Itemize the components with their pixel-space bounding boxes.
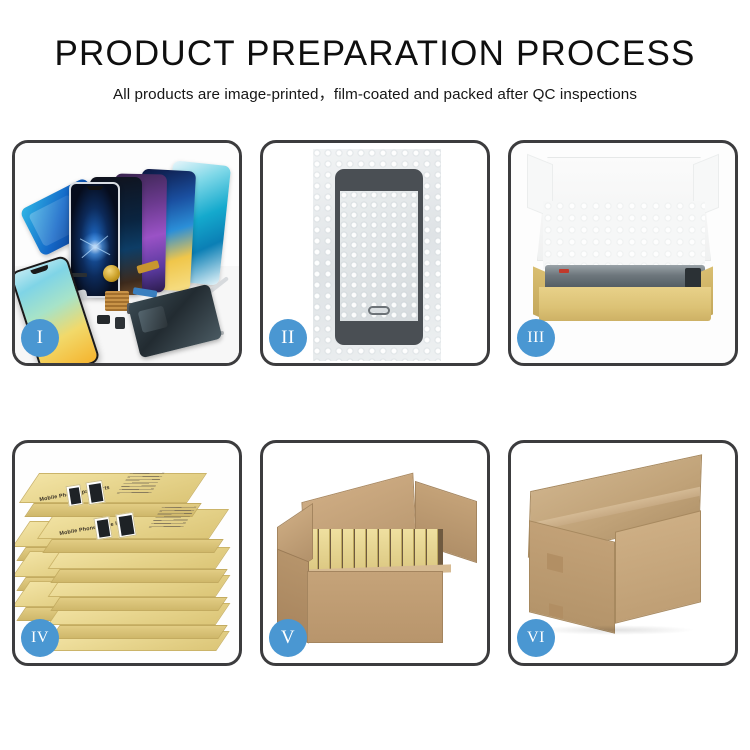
step-numeral: II [281, 327, 295, 349]
box-front-wall [539, 287, 711, 321]
foam-padding [543, 201, 705, 269]
process-step-panel-3[interactable]: III [508, 140, 738, 366]
box-artwork-screen-3 [93, 516, 112, 540]
notch-shape [87, 186, 103, 190]
box-artwork-screen-1 [65, 484, 83, 507]
process-step-panel-2[interactable]: II [260, 140, 490, 366]
header: PRODUCT PREPARATION PROCESS All products… [0, 0, 750, 104]
step-numeral: III [527, 329, 544, 347]
small-module-part-2 [115, 317, 125, 329]
box-front-face [50, 625, 227, 639]
step-badge-2: II [269, 319, 307, 357]
box-front-face [42, 539, 223, 553]
home-button-shape [368, 306, 390, 315]
page-title: PRODUCT PREPARATION PROCESS [0, 34, 750, 73]
carton-front-face [307, 571, 443, 643]
process-step-grid: I II III [12, 140, 738, 692]
wrapped-screen-glass [335, 169, 423, 345]
process-step-panel-4[interactable]: Mobile Phone Spare Parts Mobile Phone Sp… [12, 440, 242, 666]
notch-shape [30, 265, 49, 275]
small-module-part-1 [97, 315, 110, 324]
process-step-panel-5[interactable]: V [260, 440, 490, 666]
box-front-face [50, 597, 227, 611]
step-numeral: VI [527, 629, 545, 647]
step-numeral: V [281, 627, 295, 649]
step-badge-4: IV [21, 619, 59, 657]
step-numeral: IV [31, 629, 49, 647]
box-front-face [50, 569, 227, 583]
step-badge-6: VI [517, 619, 555, 657]
step-badge-5: V [269, 619, 307, 657]
chip-grid-part [105, 291, 129, 311]
step-badge-3: III [517, 319, 555, 357]
process-step-panel-6[interactable]: VI [508, 440, 738, 666]
step-numeral: I [37, 327, 44, 349]
red-label-mark [559, 269, 569, 273]
copper-coil-part [103, 265, 120, 282]
page-subtitle: All products are image-printed，film-coat… [0, 82, 750, 104]
process-step-panel-1[interactable]: I [12, 140, 242, 366]
step-badge-1: I [21, 319, 59, 357]
box-artwork-screen-4 [115, 512, 137, 539]
sealed-carton-right-face [615, 510, 701, 623]
carton-shadow [535, 625, 695, 635]
wallpaper-burst [80, 232, 110, 262]
box-artwork-screen-2 [85, 480, 105, 505]
